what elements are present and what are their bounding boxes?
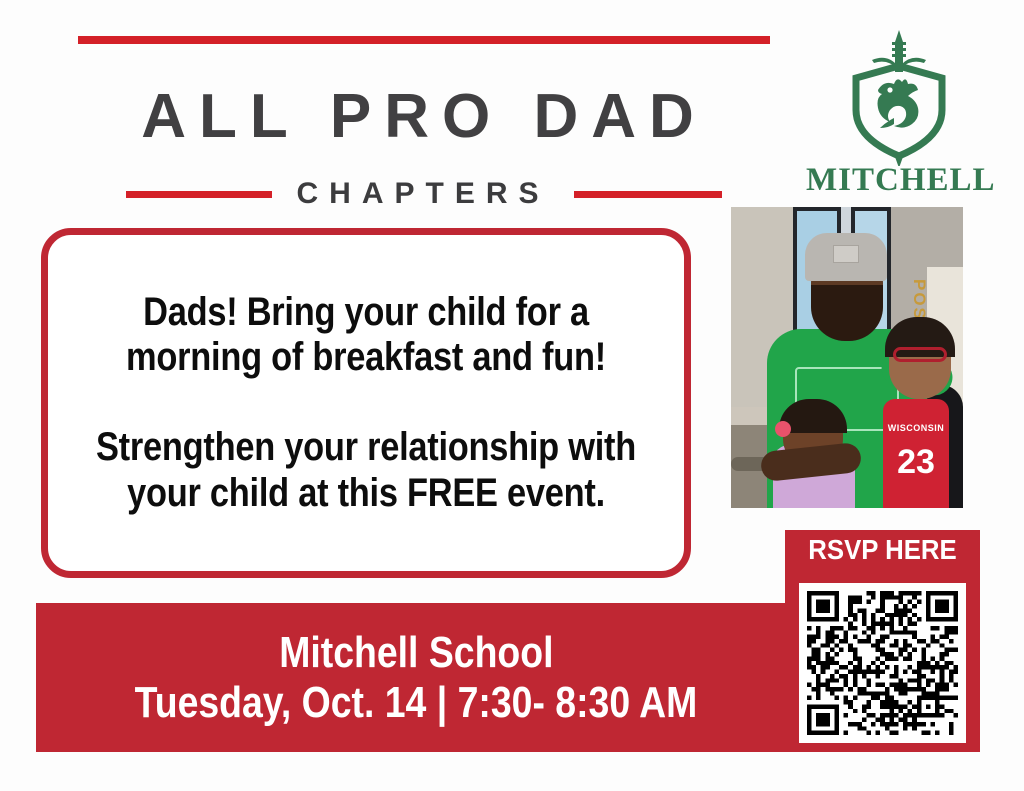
event-photo: POSITIVITY WISCONSIN 23 bbox=[731, 207, 963, 508]
event-schedule: Tuesday, Oct. 14 | 7:30- 8:30 AM bbox=[135, 678, 698, 727]
photo-child-hair-bow bbox=[775, 421, 791, 437]
photo-teen-glasses bbox=[893, 347, 947, 362]
mitchell-school-logo: MITCHELL bbox=[806, 26, 992, 198]
photo-beanie-label bbox=[833, 245, 859, 263]
event-message-box: Dads! Bring your child for a morning of … bbox=[41, 228, 691, 578]
logo-rule-left bbox=[126, 191, 272, 198]
logo-subtitle: CHAPTERS bbox=[272, 179, 573, 209]
logo-rule-right bbox=[574, 191, 722, 198]
logo-wordmark: ALL PRO DAD bbox=[78, 86, 770, 148]
photo-jersey-wordmark: WISCONSIN bbox=[883, 423, 949, 433]
photo-jersey-number: 23 bbox=[883, 445, 949, 479]
rsvp-label: RSVP HERE bbox=[793, 536, 972, 564]
message-paragraph-2: Strengthen your relationship with your c… bbox=[93, 425, 640, 516]
event-info-text: Mitchell School Tuesday, Oct. 14 | 7:30-… bbox=[36, 603, 796, 752]
logo-subtitle-row: CHAPTERS bbox=[78, 179, 770, 209]
logo-top-rule bbox=[78, 36, 770, 44]
rsvp-qr-code[interactable] bbox=[799, 583, 966, 743]
qr-code-image bbox=[807, 591, 958, 735]
all-pro-dad-logo: ALL PRO DAD CHAPTERS bbox=[78, 36, 770, 196]
event-location: Mitchell School bbox=[279, 628, 553, 677]
mitchell-school-name: MITCHELL bbox=[806, 164, 992, 197]
message-paragraph-1: Dads! Bring your child for a morning of … bbox=[93, 290, 640, 381]
